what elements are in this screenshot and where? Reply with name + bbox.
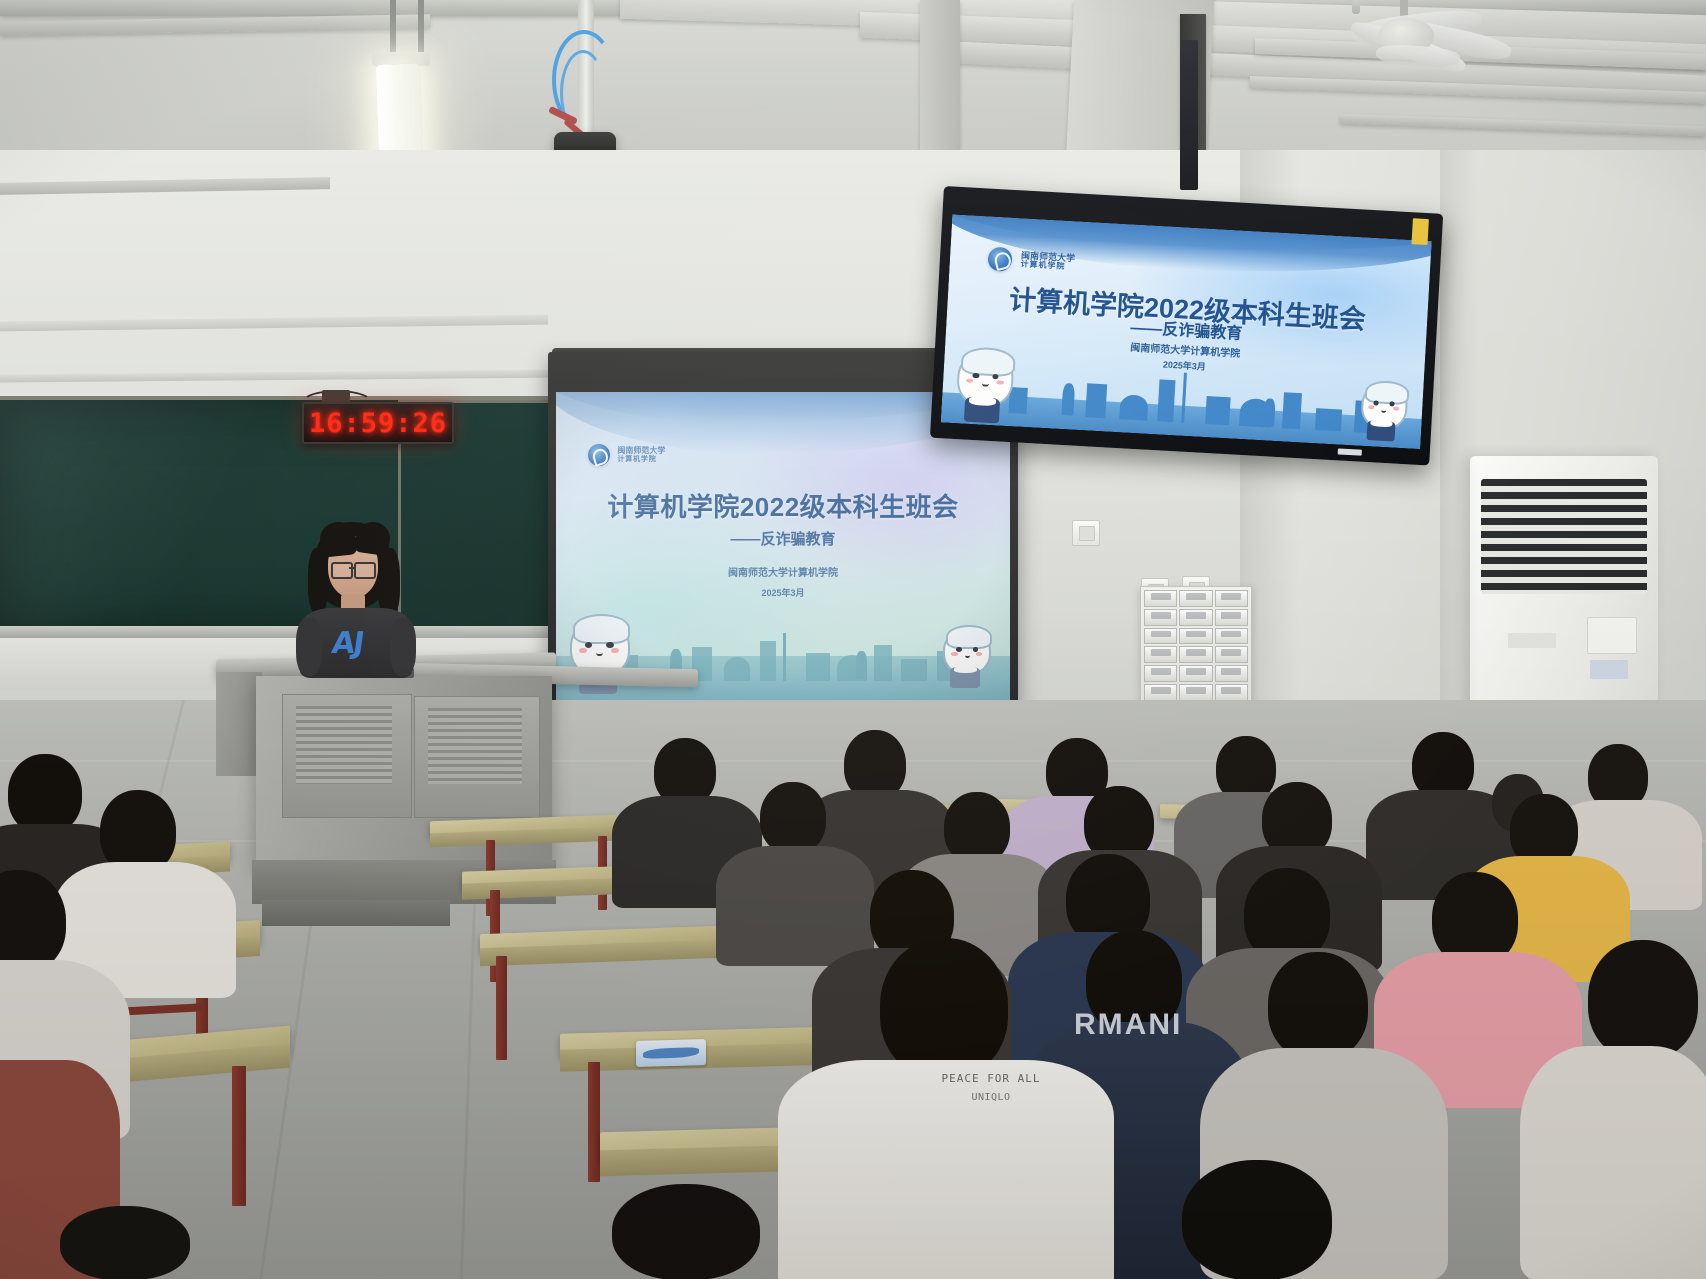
mascot-eye xyxy=(1373,401,1379,406)
light-switch-plate[interactable] xyxy=(1072,520,1100,546)
student-head xyxy=(1268,952,1368,1060)
tv-sticker-badge xyxy=(1411,218,1428,245)
slide-logo-line2: 计算机学院 xyxy=(617,456,665,463)
pocket-cell[interactable] xyxy=(1179,609,1212,626)
mascot-collar xyxy=(954,666,977,673)
ac-vent xyxy=(1481,479,1646,594)
desk-sticker xyxy=(636,1039,706,1067)
presenter-arm xyxy=(296,618,322,676)
tv-panel: 闽南师范大学 计算机学院 计算机学院2022级本科生班会 ——反诈骗教育 闽南师… xyxy=(941,215,1432,449)
pocket-cell[interactable] xyxy=(1144,665,1177,682)
student-head xyxy=(1588,940,1698,1060)
pocket-cell[interactable] xyxy=(1179,590,1212,607)
podium-vent xyxy=(296,706,392,784)
skyline-building xyxy=(1315,408,1342,431)
mascot-cheek xyxy=(1368,406,1374,410)
pocket-cell[interactable] xyxy=(1144,646,1177,663)
mascot-cheek xyxy=(611,648,619,652)
ac-control-panel[interactable] xyxy=(1587,617,1638,654)
slide-logo: 闽南师范大学 计算机学院 xyxy=(588,435,779,475)
tv-wall-mount xyxy=(1180,40,1198,190)
skyline-dome xyxy=(1119,394,1148,421)
skyline-building xyxy=(901,659,927,681)
pocket-cell[interactable] xyxy=(1179,684,1212,701)
pocket-cell[interactable] xyxy=(1144,628,1177,645)
wall-led-clock: 16:59:26 xyxy=(302,402,454,444)
skyline-dome xyxy=(724,657,750,681)
mascot-eye xyxy=(606,642,613,648)
mascot-cheek xyxy=(579,648,587,652)
classroom-photo: 16:59:26 闽南师范大学 计算机学院 计算机学院2022级本科生班会 ——… xyxy=(0,0,1706,1279)
blackboard-tray xyxy=(0,626,560,638)
mascot-hat xyxy=(946,625,992,649)
slide-logo-line2: 计算机学院 xyxy=(1020,261,1074,272)
mascot-eye xyxy=(972,373,979,379)
pocket-cell[interactable] xyxy=(1215,646,1248,663)
presenter-at-podium: AJ xyxy=(296,522,416,672)
pocket-cell[interactable] xyxy=(1144,590,1177,607)
mascot-eye xyxy=(956,647,962,652)
student-head-foreground xyxy=(880,938,1008,1078)
slide-title: 计算机学院2022级本科生班会 xyxy=(556,487,1010,524)
mascot-cheek xyxy=(951,652,957,655)
university-emblem-icon xyxy=(988,246,1013,271)
mascot-cheek xyxy=(976,652,982,655)
pocket-cell[interactable] xyxy=(1215,590,1248,607)
slide-logo-line1: 闽南师范大学 xyxy=(617,447,665,455)
shirt-text-line1: PEACE FOR ALL xyxy=(906,1072,1076,1085)
skyline-building xyxy=(1009,387,1028,414)
desk-leg xyxy=(588,1062,600,1182)
skyline-tower xyxy=(783,633,786,681)
skyline-building xyxy=(1282,393,1302,430)
student-head xyxy=(1182,1160,1332,1279)
student-body xyxy=(1520,1046,1706,1279)
desk-leg xyxy=(496,956,507,1060)
slide-organization: 闽南师范大学计算机学院 xyxy=(556,564,1010,579)
university-emblem-icon xyxy=(588,444,610,466)
armani-shirt-text: RMANI xyxy=(1074,1008,1182,1042)
pocket-cell[interactable] xyxy=(1179,646,1212,663)
mascot-hat xyxy=(1364,379,1410,405)
mascot-cheek xyxy=(1393,407,1399,411)
skyline-figure xyxy=(856,651,867,679)
light-hanger xyxy=(1352,0,1360,14)
skyline-building xyxy=(1205,396,1231,425)
ac-label xyxy=(1508,633,1557,648)
slide-subtitle: ——反诈骗教育 xyxy=(556,528,1010,549)
mascot-eye xyxy=(992,374,999,380)
presenter-shirt-graphic: AJ xyxy=(330,626,365,661)
mascot-mouth xyxy=(1381,407,1386,413)
pocket-cell[interactable] xyxy=(1215,628,1248,645)
pocket-cell[interactable] xyxy=(1144,684,1177,701)
presenter-glasses-bridge xyxy=(349,567,354,569)
slide-logo-words: 闽南师范大学 计算机学院 xyxy=(617,447,665,463)
tv-brand-logo xyxy=(1338,448,1362,455)
pocket-cell[interactable] xyxy=(1215,609,1248,626)
mascot-cheek xyxy=(966,378,973,383)
presenter-arm xyxy=(390,618,416,676)
mascot-eye xyxy=(1389,402,1395,407)
clock-time-text: 16:59:26 xyxy=(309,408,447,439)
presenter-glasses xyxy=(331,562,353,579)
mascot-cheek xyxy=(996,380,1003,385)
mascot-mouth xyxy=(596,649,603,655)
shirt-text-line2: UNIQLO xyxy=(916,1092,1066,1103)
pocket-cell[interactable] xyxy=(1215,665,1248,682)
slide-mascot xyxy=(943,628,987,688)
pocket-cell[interactable] xyxy=(1179,628,1212,645)
desk-leg xyxy=(232,1066,246,1206)
skyline-building xyxy=(874,645,892,681)
skyline-figure xyxy=(1263,398,1276,427)
mascot-mouth xyxy=(982,380,989,386)
mascot-eye xyxy=(973,647,979,652)
student-head xyxy=(8,754,82,834)
presenter-hair-side xyxy=(308,548,328,614)
skyline-building xyxy=(1085,384,1107,419)
student-head xyxy=(760,782,826,854)
skyline-figure xyxy=(1061,383,1075,416)
skyline-building xyxy=(1157,380,1175,423)
light-hanger xyxy=(418,0,424,60)
pocket-cell[interactable] xyxy=(1144,609,1177,626)
mascot-mouth xyxy=(965,653,970,658)
student-body xyxy=(716,846,874,966)
pocket-cell[interactable] xyxy=(1179,665,1212,682)
slide-mascot xyxy=(1359,381,1404,441)
mascot-eye xyxy=(585,642,592,648)
mascot-hat xyxy=(573,614,631,643)
ac-brand-label xyxy=(1590,660,1628,679)
wall-tv: 闽南师范大学 计算机学院 计算机学院2022级本科生班会 ——反诈骗教育 闽南师… xyxy=(930,186,1443,466)
student-head xyxy=(612,1184,760,1279)
skyline-building xyxy=(760,641,776,681)
pocket-cell[interactable] xyxy=(1215,684,1248,701)
slide-logo-words: 闽南师范大学 计算机学院 xyxy=(1020,251,1075,272)
student-head xyxy=(60,1206,190,1279)
mascot-collar xyxy=(1370,419,1392,427)
mascot-collar xyxy=(969,396,996,406)
podium-vent xyxy=(428,708,522,784)
light-hanger xyxy=(390,0,396,56)
presenter-glasses xyxy=(354,562,376,579)
slide-mascot xyxy=(955,349,1011,424)
skyline-building xyxy=(806,653,830,681)
slide-on-tv: 闽南师范大学 计算机学院 计算机学院2022级本科生班会 ——反诈骗教育 闽南师… xyxy=(941,215,1432,449)
podium-base-shadow xyxy=(262,900,450,926)
